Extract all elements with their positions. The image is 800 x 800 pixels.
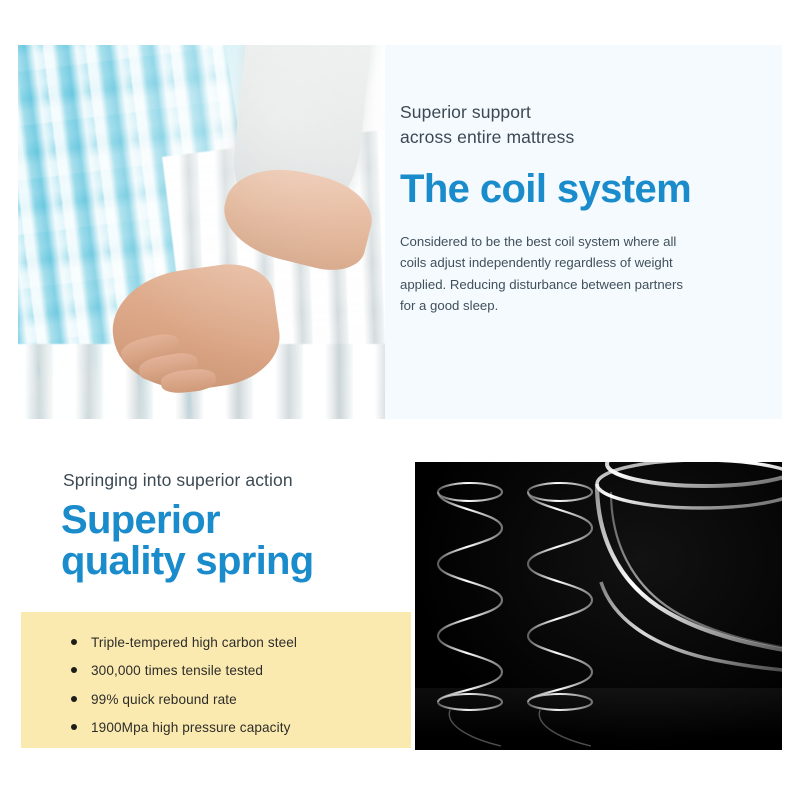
list-item-label: Triple-tempered high carbon steel — [91, 635, 297, 650]
coil-system-text-panel: Superior support across entire mattress … — [385, 45, 782, 419]
coil-system-section: Superior support across entire mattress … — [0, 45, 800, 419]
bullet-dot-icon — [71, 667, 77, 673]
spring-small-left — [438, 483, 502, 710]
quality-spring-heading-line1: Superior — [61, 500, 313, 541]
hand-pressing-pocket-coils-photo — [18, 45, 385, 419]
floor-reflection — [415, 688, 782, 750]
list-item: 1900Mpa high pressure capacity — [69, 719, 411, 736]
list-item-label: 300,000 times tensile tested — [91, 663, 263, 678]
list-item-label: 1900Mpa high pressure capacity — [91, 720, 290, 735]
list-item: 300,000 times tensile tested — [69, 662, 411, 679]
spring-small-mid — [528, 483, 592, 710]
list-item-label: 99% quick rebound rate — [91, 692, 237, 707]
spring-closeup-right — [597, 462, 782, 671]
quality-spring-section: Springing into superior action Superior … — [0, 462, 800, 752]
spring-features-list: Triple-tempered high carbon steel 300,00… — [69, 634, 411, 737]
quality-spring-heading: Superior quality spring — [61, 500, 313, 582]
bullet-dot-icon — [71, 639, 77, 645]
list-item: 99% quick rebound rate — [69, 691, 411, 708]
coil-system-body-text: Considered to be the best coil system wh… — [400, 231, 700, 317]
quality-spring-eyebrow: Springing into superior action — [63, 470, 293, 491]
coil-system-subhead-line1: Superior support — [400, 100, 742, 125]
spring-features-callout: Triple-tempered high carbon steel 300,00… — [21, 612, 411, 748]
bullet-dot-icon — [71, 696, 77, 702]
coil-springs-on-black-photo — [415, 462, 782, 750]
infographic-page: Superior support across entire mattress … — [0, 0, 800, 800]
list-item: Triple-tempered high carbon steel — [69, 634, 411, 651]
coil-system-subhead-line2: across entire mattress — [400, 125, 742, 150]
coil-system-heading: The coil system — [400, 169, 742, 209]
coil-system-subhead: Superior support across entire mattress — [400, 100, 742, 151]
quality-spring-heading-line2: quality spring — [61, 541, 313, 582]
bullet-dot-icon — [71, 724, 77, 730]
quality-spring-text-panel: Springing into superior action Superior … — [21, 462, 411, 752]
